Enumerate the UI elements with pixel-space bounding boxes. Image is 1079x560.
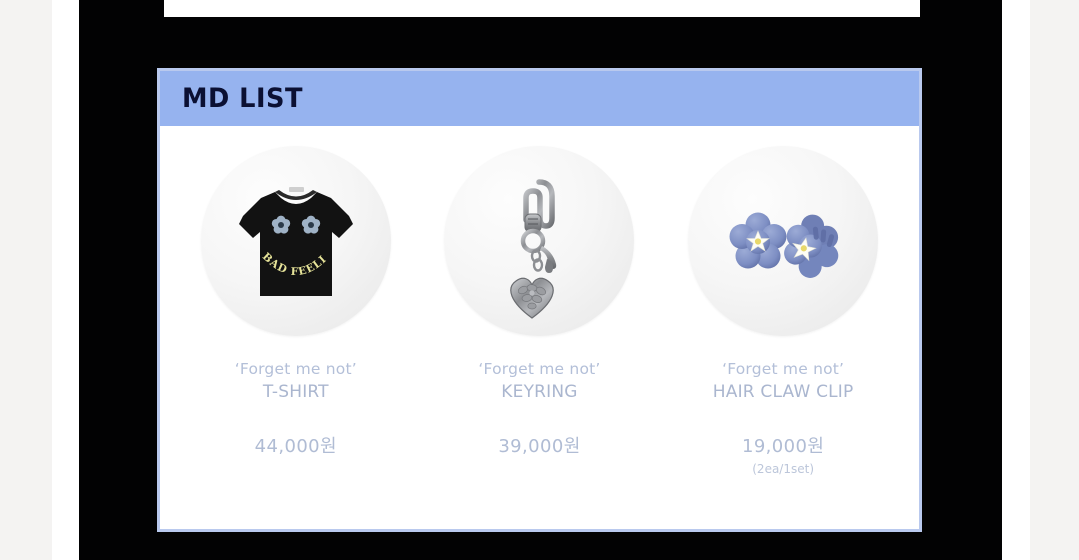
hair-claw-clip-icon [688,146,878,336]
hair-claw-clip-caption-name: HAIR CLAW CLIP [713,382,854,404]
tshirt-price-block: 44,000원 [255,432,337,458]
screenshot-root: MD LIST [0,0,1079,560]
hair-claw-clip-price: 19,000원 [742,432,824,458]
hair-claw-clip-caption-sub: ‘Forget me not’ [713,360,854,380]
tshirt-icon: NO BAD FEELINGS [201,146,391,336]
tshirt-caption-sub: ‘Forget me not’ [235,360,357,380]
keyring-price: 39,000원 [498,432,580,458]
hair-claw-clip-price-note: (2ea/1set) [742,462,824,476]
keyring-icon [444,146,634,336]
tshirt-caption: ‘Forget me not’ T-SHIRT [235,360,357,404]
hair-claw-clip-price-block: 19,000원 (2ea/1set) [742,432,824,476]
previous-section-strip [164,0,920,17]
product-card-keyring[interactable]: ‘Forget me not’ KEYRING 39,000원 [422,146,656,458]
md-list-header: MD LIST [160,71,919,126]
md-list-title: MD LIST [182,85,303,112]
md-list-card: MD LIST [157,68,922,532]
keyring-caption-sub: ‘Forget me not’ [478,360,600,380]
tshirt-photo[interactable]: NO BAD FEELINGS [201,146,391,336]
product-grid: NO BAD FEELINGS ‘Forget me not’ T-SHIRT … [160,126,919,476]
keyring-price-block: 39,000원 [498,432,580,458]
hair-claw-clip-photo[interactable] [688,146,878,336]
keyring-caption-name: KEYRING [478,382,600,404]
tshirt-price: 44,000원 [255,432,337,458]
keyring-photo[interactable] [444,146,634,336]
product-card-tshirt[interactable]: NO BAD FEELINGS ‘Forget me not’ T-SHIRT … [179,146,413,458]
product-card-hair-claw-clip[interactable]: ‘Forget me not’ HAIR CLAW CLIP 19,000원 (… [666,146,900,476]
right-white-gutter [1002,0,1030,560]
keyring-caption: ‘Forget me not’ KEYRING [478,360,600,404]
hair-claw-clip-caption: ‘Forget me not’ HAIR CLAW CLIP [713,360,854,404]
left-white-gutter [52,0,79,560]
tshirt-caption-name: T-SHIRT [235,382,357,404]
